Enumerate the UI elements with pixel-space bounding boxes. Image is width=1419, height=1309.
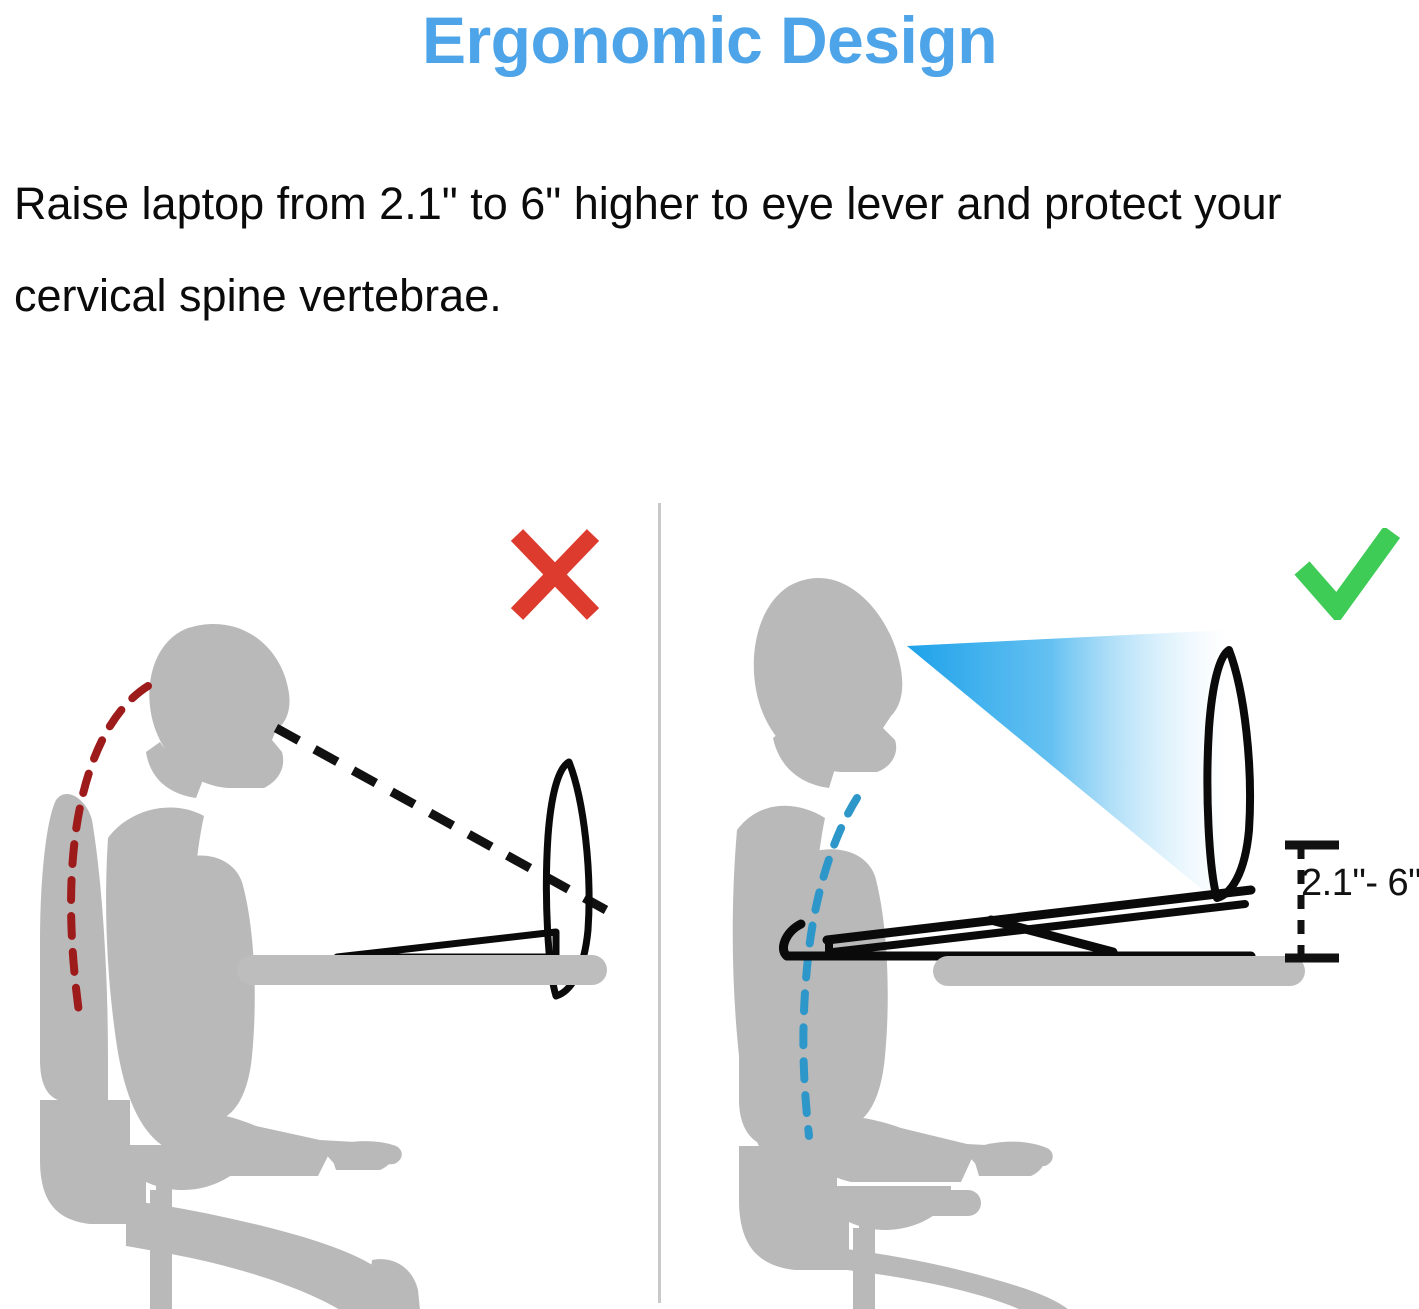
vision-cone-icon — [907, 630, 1227, 910]
desk-surface — [933, 956, 1305, 986]
x-mark-icon — [505, 527, 605, 622]
dimension-label: 2.1"- 6" — [1301, 862, 1419, 905]
page-title: Ergonomic Design — [0, 2, 1419, 78]
desk-surface — [237, 955, 607, 985]
sight-line-downward — [276, 728, 606, 910]
page-subtitle: Raise laptop from 2.1" to 6" higher to e… — [14, 158, 1394, 342]
ergonomic-design-infographic: Ergonomic Design Raise laptop from 2.1" … — [0, 0, 1419, 1309]
check-mark-icon — [1292, 528, 1402, 620]
